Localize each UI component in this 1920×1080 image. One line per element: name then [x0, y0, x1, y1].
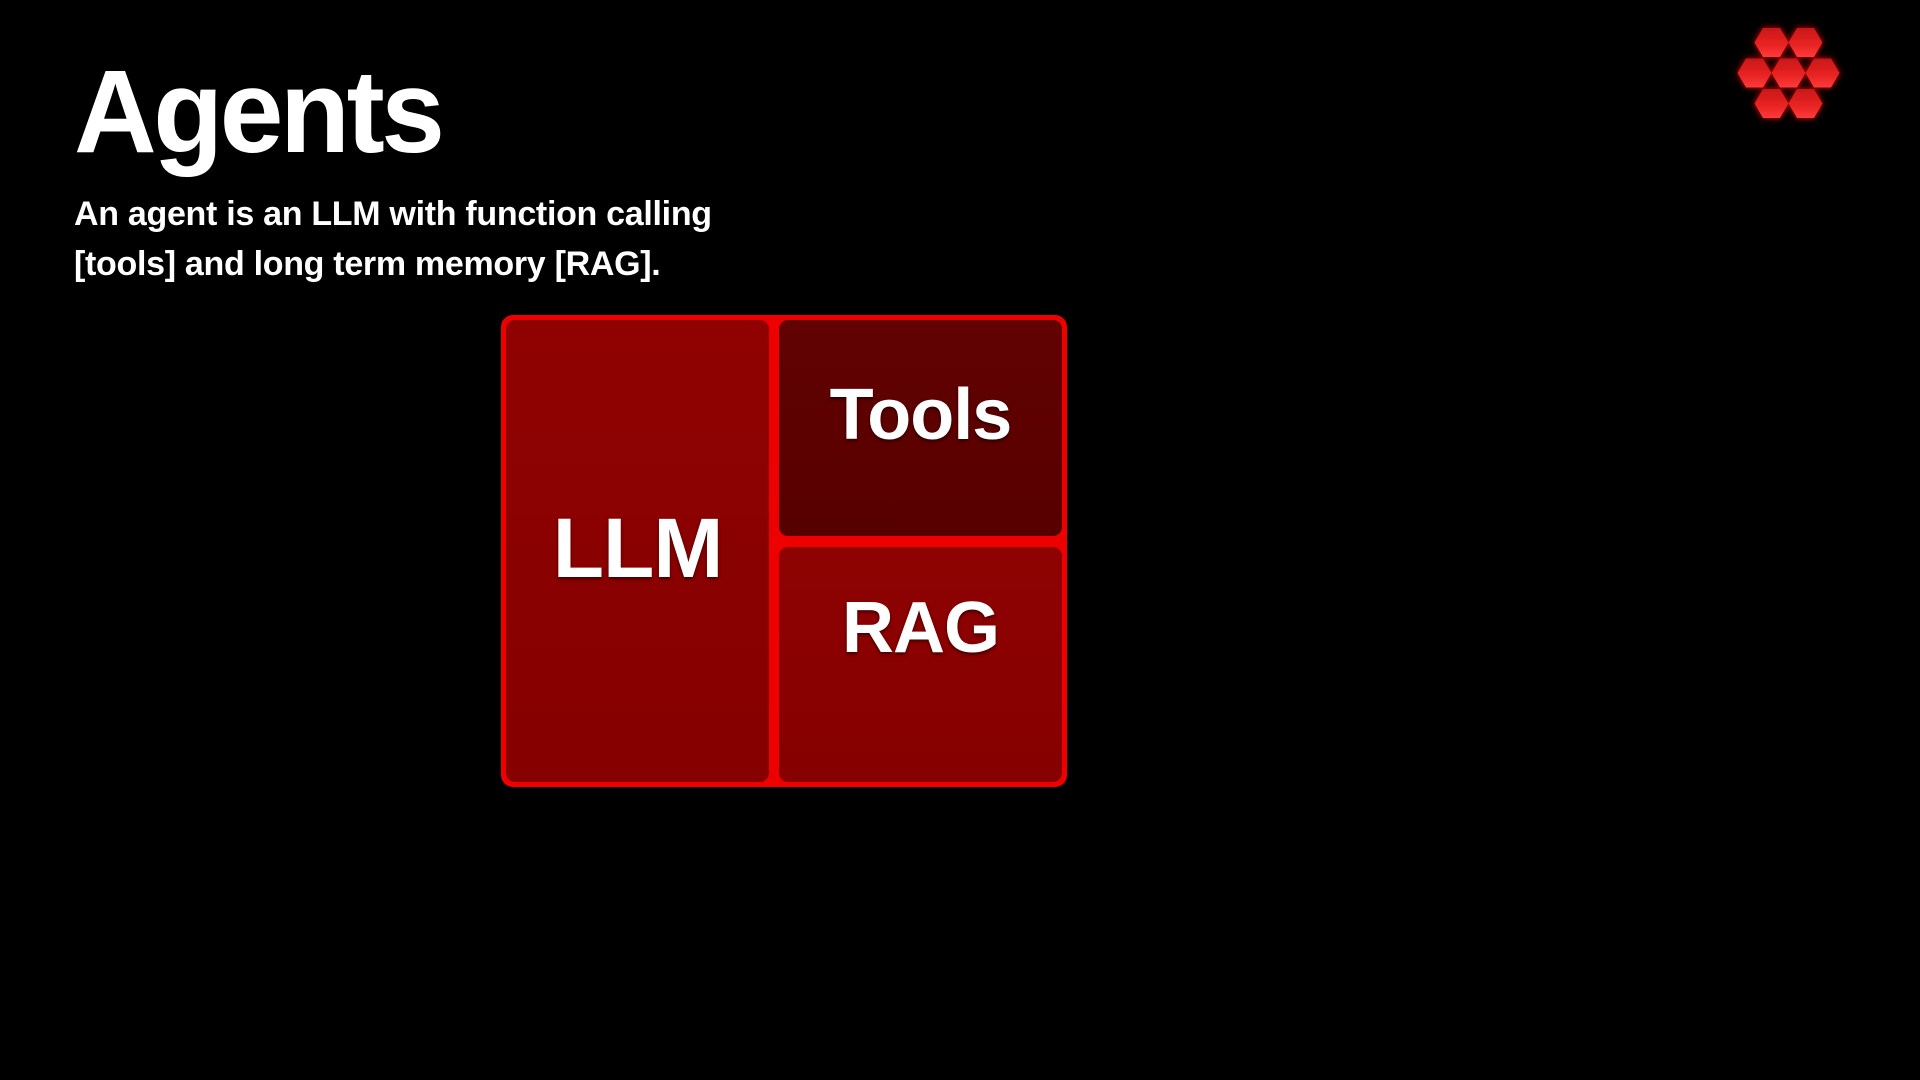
panel-llm[interactable]: LLM — [506, 320, 769, 782]
panel-tools-label: Tools — [830, 379, 1012, 451]
hexagon-top-left — [1755, 28, 1789, 57]
diagram-right-column: Tools RAG — [779, 320, 1062, 782]
hexagon-mid-left — [1738, 59, 1772, 88]
hexagon-bottom-left — [1755, 89, 1789, 118]
hexagon-bottom-right — [1789, 89, 1823, 118]
honeycomb-logo — [1735, 25, 1845, 125]
page-title: Agents — [74, 52, 1141, 172]
slide-root: Agents An agent is an LLM with function … — [0, 0, 1920, 1080]
hexagon-mid-center — [1772, 59, 1806, 88]
panel-tools[interactable]: Tools — [779, 320, 1062, 536]
hexagon-top-right — [1789, 28, 1823, 57]
subtitle-line-2: [tools] and long term memory [RAG]. — [74, 240, 1174, 290]
title-block: Agents An agent is an LLM with function … — [74, 52, 1174, 290]
panel-rag-label: RAG — [842, 592, 999, 664]
panel-llm-label: LLM — [553, 506, 723, 590]
panel-rag[interactable]: RAG — [779, 547, 1062, 782]
subtitle-line-1: An agent is an LLM with function calling — [74, 190, 1174, 240]
agent-architecture-diagram: LLM Tools RAG — [501, 315, 1067, 787]
hexagon-mid-right — [1806, 59, 1840, 88]
slide-subtitle: An agent is an LLM with function calling… — [74, 190, 1174, 289]
